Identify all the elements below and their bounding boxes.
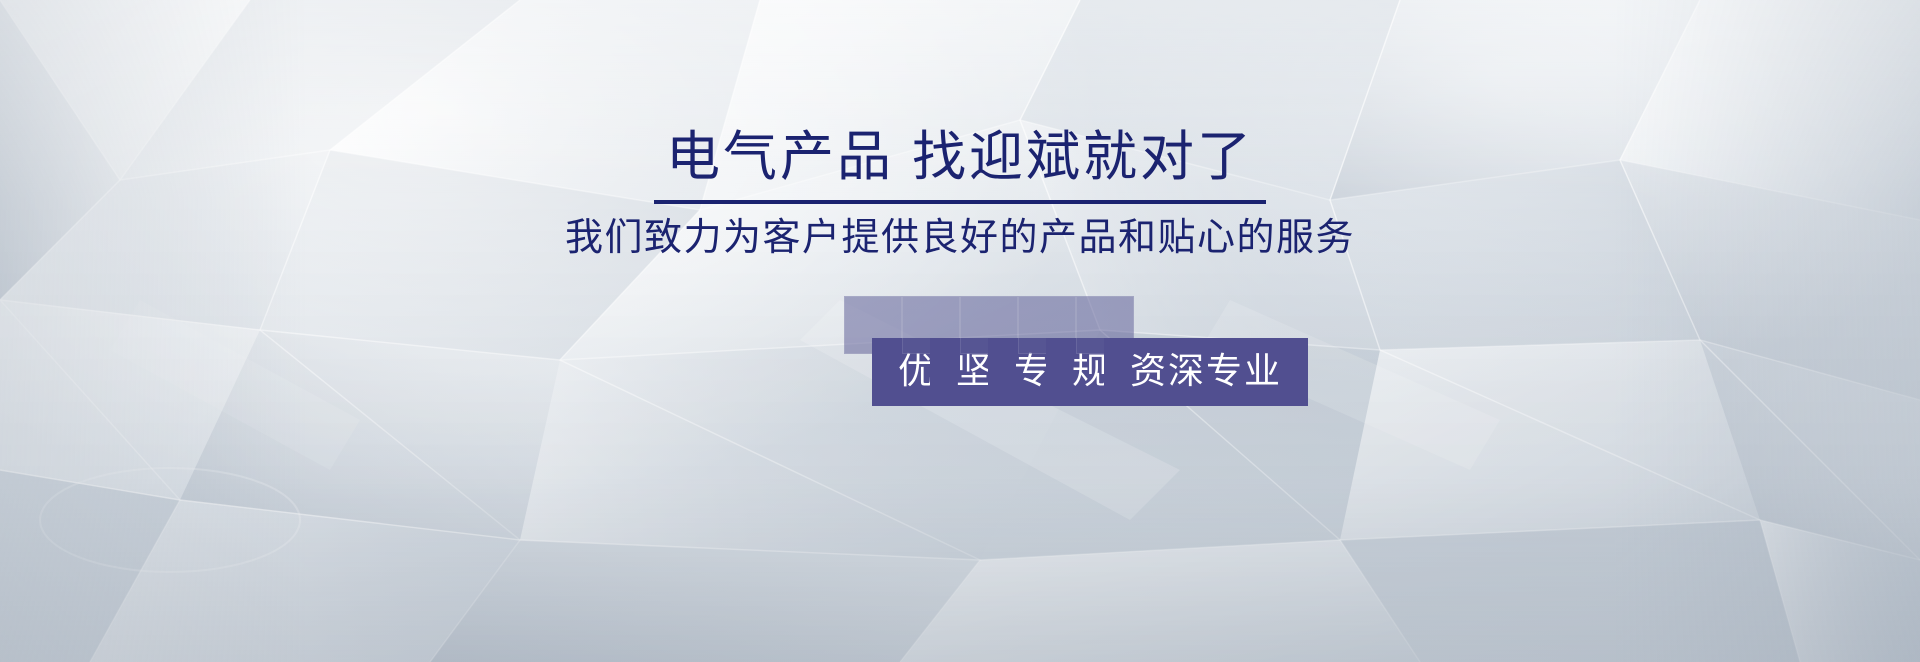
banner-headline: 电气产品 找迎斌就对了	[660, 128, 1260, 186]
banner-content: 电气产品 找迎斌就对了 我们致力为客户提供良好的产品和贴心的服务 优良元器件 坚…	[0, 0, 1920, 662]
badge-bar[interactable]: 资深专业	[1104, 338, 1308, 406]
feature-badge-row: 优良元器件 坚固外壳 专注品质 规格齐全	[0, 296, 1920, 406]
headline-underline-rule	[654, 200, 1266, 204]
headline-block: 电气产品 找迎斌就对了	[0, 128, 1920, 204]
banner-subtitle: 我们致力为客户提供良好的产品和贴心的服务	[0, 218, 1920, 260]
promo-banner: 电气产品 找迎斌就对了 我们致力为客户提供良好的产品和贴心的服务 优良元器件 坚…	[0, 0, 1920, 662]
feature-badge-label: 资深专业	[1130, 353, 1282, 389]
